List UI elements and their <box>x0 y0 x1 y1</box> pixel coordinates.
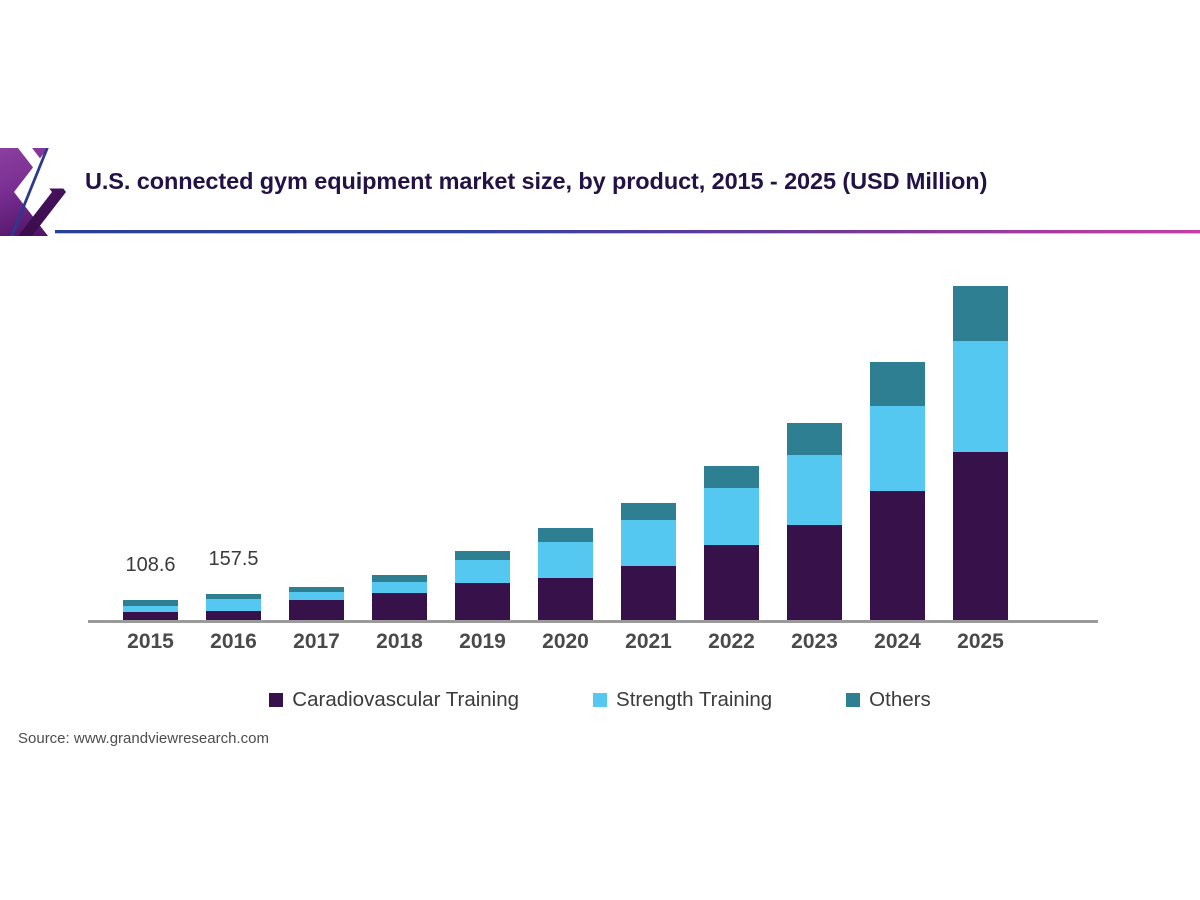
value-label-2016: 157.5 <box>174 548 294 571</box>
bar-segment-others-2025 <box>953 286 1008 341</box>
bar-segment-cardio-2017 <box>289 600 344 620</box>
bar-segment-strength-2018 <box>372 582 427 593</box>
bar-2020[interactable] <box>538 528 593 620</box>
bar-segment-cardio-2016 <box>206 611 261 620</box>
legend-label-1: Strength Training <box>616 688 772 712</box>
legend-label-2: Others <box>869 688 931 712</box>
bar-segment-strength-2017 <box>289 592 344 600</box>
bar-segment-cardio-2019 <box>455 583 510 620</box>
bar-segment-cardio-2020 <box>538 578 593 620</box>
bar-segment-cardio-2021 <box>621 566 676 620</box>
bar-2017[interactable] <box>289 587 344 620</box>
bar-segment-cardio-2025 <box>953 452 1008 620</box>
bar-segment-others-2019 <box>455 551 510 560</box>
legend-swatch-icon-1 <box>593 693 607 707</box>
bar-segment-cardio-2024 <box>870 491 925 620</box>
x-tick-2025: 2025 <box>926 630 1036 654</box>
bar-segment-strength-2025 <box>953 341 1008 452</box>
bar-segment-others-2020 <box>538 528 593 542</box>
chart-legend: Caradiovascular TrainingStrength Trainin… <box>0 688 1200 712</box>
x-axis-line <box>88 620 1098 623</box>
bar-segment-cardio-2023 <box>787 525 842 620</box>
bar-segment-others-2023 <box>787 423 842 455</box>
bar-segment-others-2022 <box>704 466 759 488</box>
bar-segment-strength-2021 <box>621 520 676 566</box>
bar-segment-strength-2019 <box>455 560 510 583</box>
bar-segment-cardio-2022 <box>704 545 759 620</box>
legend-swatch-icon-2 <box>846 693 860 707</box>
legend-label-0: Caradiovascular Training <box>292 688 519 712</box>
bar-segment-strength-2024 <box>870 406 925 491</box>
plot-area: 108.6157.5 20152016201720182019202020212… <box>0 0 1200 900</box>
bar-segment-strength-2022 <box>704 488 759 545</box>
bar-2021[interactable] <box>621 503 676 620</box>
legend-swatch-icon-0 <box>269 693 283 707</box>
bar-segment-cardio-2018 <box>372 593 427 620</box>
bar-segment-others-2021 <box>621 503 676 520</box>
legend-item-1[interactable]: Strength Training <box>593 688 772 712</box>
source-note: Source: www.grandviewresearch.com <box>18 730 269 747</box>
bar-segment-others-2018 <box>372 575 427 582</box>
bar-2025[interactable] <box>953 286 1008 620</box>
legend-item-0[interactable]: Caradiovascular Training <box>269 688 519 712</box>
bar-segment-strength-2023 <box>787 455 842 525</box>
bar-2015[interactable] <box>123 600 178 620</box>
bar-2022[interactable] <box>704 466 759 620</box>
bar-segment-others-2024 <box>870 362 925 406</box>
bar-segment-cardio-2015 <box>123 612 178 620</box>
bar-segment-strength-2020 <box>538 542 593 578</box>
bar-2019[interactable] <box>455 551 510 620</box>
bar-2024[interactable] <box>870 362 925 620</box>
legend-item-2[interactable]: Others <box>846 688 931 712</box>
bar-2023[interactable] <box>787 423 842 620</box>
bar-segment-strength-2016 <box>206 599 261 611</box>
bar-2018[interactable] <box>372 575 427 620</box>
chart-page: U.S. connected gym equipment market size… <box>0 0 1200 900</box>
bar-2016[interactable] <box>206 594 261 620</box>
